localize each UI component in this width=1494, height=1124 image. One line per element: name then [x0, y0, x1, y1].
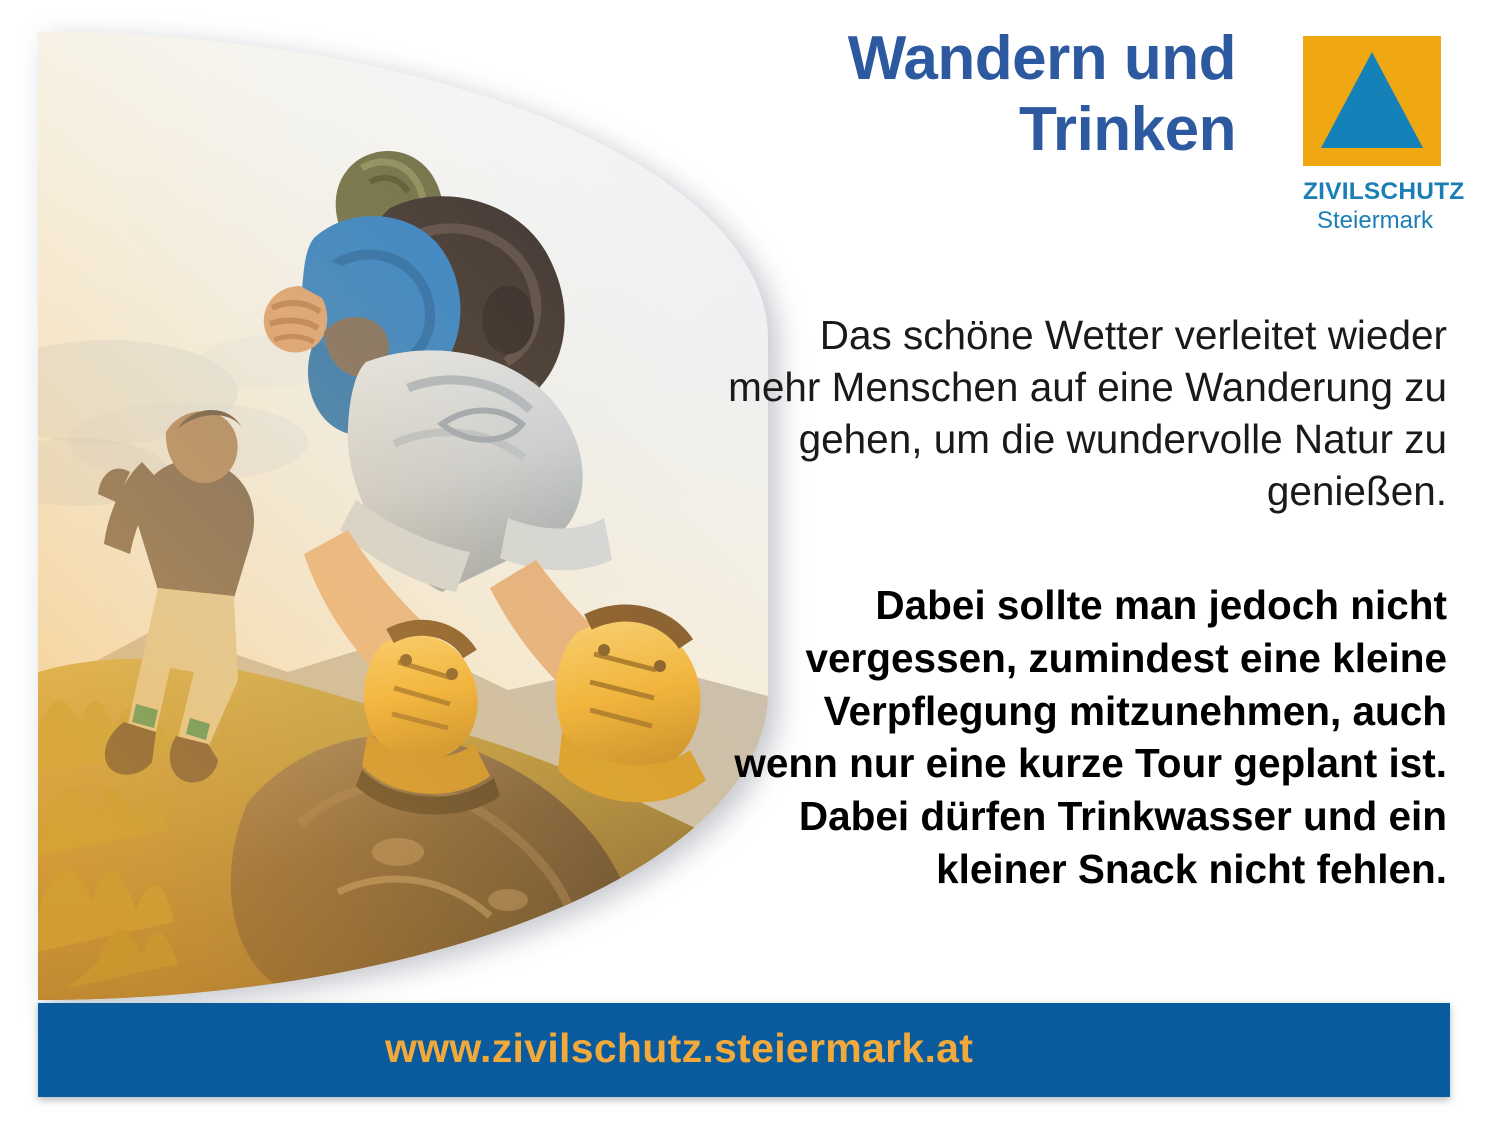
advice-paragraph: Dabei sollte man jedoch nicht vergessen,…	[727, 579, 1447, 895]
logo-name: ZIVILSCHUTZ	[1303, 179, 1447, 206]
logo-region: Steiermark	[1303, 207, 1447, 235]
page-title-line-2: Trinken	[716, 95, 1236, 166]
hero-photo	[38, 32, 768, 1000]
page-title-line-1: Wandern und	[716, 24, 1236, 95]
footer-bar: www.zivilschutz.steiermark.at	[38, 1003, 1450, 1097]
poster-canvas: Wandern und Trinken ZIVILSCHUTZ Steierma…	[0, 0, 1494, 1124]
page-title: Wandern und Trinken	[716, 24, 1236, 165]
body-copy: Das schöne Wetter verleitet wieder mehr …	[727, 268, 1447, 936]
warning-triangle-icon	[1321, 52, 1423, 148]
website-url[interactable]: www.zivilschutz.steiermark.at	[385, 1025, 973, 1072]
logo-mark-square	[1303, 36, 1441, 166]
zivilschutz-logo: ZIVILSCHUTZ Steiermark	[1303, 36, 1447, 235]
intro-paragraph: Das schöne Wetter verleitet wieder mehr …	[727, 309, 1447, 518]
